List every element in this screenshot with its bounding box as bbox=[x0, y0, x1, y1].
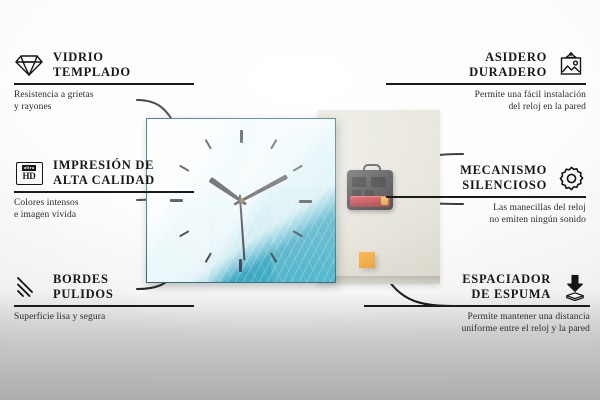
feature-title-line2: TEMPLADO bbox=[53, 65, 131, 80]
diamond-icon bbox=[14, 52, 44, 78]
feature-title-line2: DURADERO bbox=[469, 65, 547, 80]
feature-desc-line2: no emiten ningún sonido bbox=[386, 214, 586, 227]
wall-hanger-frame-icon bbox=[556, 52, 586, 78]
feature-title-line1: BORDES bbox=[53, 272, 113, 287]
foam-spacer bbox=[359, 252, 375, 268]
feature-title-line2: SILENCIOSO bbox=[460, 178, 547, 193]
spacer-arrow-icon bbox=[560, 274, 590, 300]
hanger-loop-icon bbox=[363, 164, 381, 174]
feature-espaciador-de-espuma: ESPACIADOR DE ESPUMA Permite mantener un… bbox=[364, 272, 590, 336]
feature-title-line2: ALTA CALIDAD bbox=[53, 173, 155, 188]
feature-asidero-duradero: ASIDERO DURADERO Permite una fácil insta… bbox=[386, 50, 586, 114]
divider bbox=[14, 83, 194, 85]
feature-desc-line1: Superficie lisa y segura bbox=[14, 311, 194, 324]
feature-title-line1: MECANISMO bbox=[460, 163, 547, 178]
feature-desc-line1: Permite una fácil instalación bbox=[386, 89, 586, 102]
infographic-canvas: VIDRIO TEMPLADO Resistencia a grietas y … bbox=[0, 0, 600, 400]
divider bbox=[14, 191, 194, 193]
clock-center-cap bbox=[239, 198, 244, 203]
feature-title-line1: IMPRESIÓN DE bbox=[53, 158, 155, 173]
ultra-hd-icon: ultra HD bbox=[14, 160, 44, 186]
feature-impresion-alta-calidad: ultra HD IMPRESIÓN DE ALTA CALIDAD Color… bbox=[14, 158, 194, 222]
feature-desc-line1: Colores intensos bbox=[14, 197, 194, 210]
feature-bordes-pulidos: BORDES PULIDOS Superficie lisa y segura bbox=[14, 272, 194, 323]
feature-vidrio-templado: VIDRIO TEMPLADO Resistencia a grietas y … bbox=[14, 50, 194, 114]
battery bbox=[350, 196, 390, 207]
ultra-hd-icon-main: HD bbox=[22, 172, 35, 181]
feature-desc-line1: Permite mantener una distancia bbox=[364, 311, 590, 324]
divider bbox=[364, 305, 590, 307]
feature-title-line1: ASIDERO bbox=[469, 50, 547, 65]
feature-desc-line2: uniforme entre el reloj y la pared bbox=[364, 323, 590, 336]
feature-title-line1: ESPACIADOR bbox=[462, 272, 551, 287]
feature-title-line2: PULIDOS bbox=[53, 287, 113, 302]
feature-desc-line2: y rayones bbox=[14, 101, 194, 114]
feature-desc-line1: Resistencia a grietas bbox=[14, 89, 194, 102]
divider bbox=[386, 83, 586, 85]
divider bbox=[386, 196, 586, 198]
feature-mecanismo-silencioso: MECANISMO SILENCIOSO Las manecillas del … bbox=[386, 163, 586, 227]
polished-edges-icon bbox=[14, 274, 44, 300]
feature-desc-line2: e imagen vívida bbox=[14, 209, 194, 222]
feature-desc-line1: Las manecillas del reloj bbox=[386, 202, 586, 215]
gear-icon bbox=[556, 165, 586, 191]
feature-title-line1: VIDRIO bbox=[53, 50, 131, 65]
feature-desc-line2: del reloj en la pared bbox=[386, 101, 586, 114]
divider bbox=[14, 305, 194, 307]
feature-title-line2: DE ESPUMA bbox=[462, 287, 551, 302]
